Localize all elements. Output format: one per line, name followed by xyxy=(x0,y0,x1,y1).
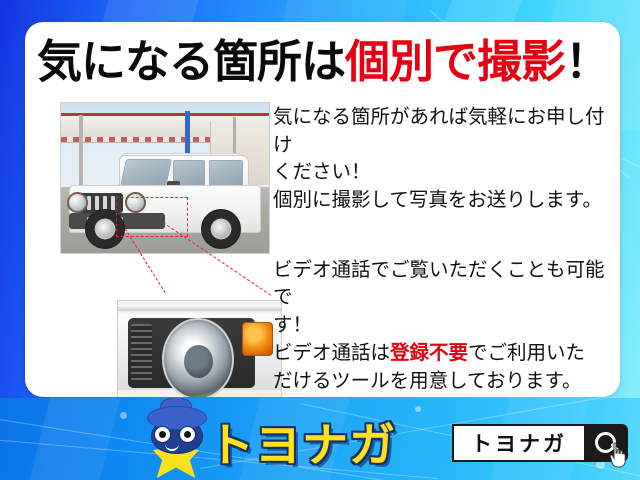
banner-image: 気になる箇所は個別で撮影！ xyxy=(0,0,640,480)
mascot-eye xyxy=(154,426,171,443)
content-card: 気になる箇所は個別で撮影！ xyxy=(25,22,620,397)
paragraph-1-line-2: ください！ xyxy=(273,161,371,183)
vehicle-photo-scene xyxy=(61,103,269,253)
headlight-lens xyxy=(162,318,234,397)
headlight xyxy=(67,192,88,213)
page-title: 気になる箇所は個別で撮影！ xyxy=(37,30,612,92)
paragraph-2-highlight: 登録不要 xyxy=(390,342,468,364)
search-button[interactable] xyxy=(584,424,628,462)
headline-part-2: ！ xyxy=(565,39,609,84)
turn-signal-lamp xyxy=(242,322,273,356)
headline-part-1: 気になる箇所は xyxy=(37,39,345,84)
description-column: 気になる箇所があれば気軽にお申し付け ください！ 個別に撮影して写真をお送りしま… xyxy=(273,104,611,395)
headlight-scene xyxy=(118,301,281,397)
brand-footer-bar: トヨナガ トヨナガ xyxy=(0,398,640,480)
wheel xyxy=(201,209,241,249)
paragraph-2-line-1: ビデオ通話でご覧いただくことも可能で xyxy=(273,259,605,309)
footer-dot xyxy=(120,412,127,419)
paragraph-2: ビデオ通話でご覧いただくことも可能で す！ ビデオ通話は登録不要でご利用いた だ… xyxy=(273,257,611,395)
vehicle-photo xyxy=(60,102,270,254)
brand-logo-text: トヨナガ xyxy=(208,422,396,468)
mascot-hat-brim xyxy=(147,406,207,430)
search-input[interactable]: トヨナガ xyxy=(452,424,584,462)
paragraph-2-line-4: だけるツールを用意しております。 xyxy=(273,370,582,392)
grille-vent xyxy=(131,324,152,381)
mascot-eye xyxy=(179,426,196,443)
photo-column xyxy=(35,102,267,390)
paragraph-2-line-3-post: でご利用いた xyxy=(468,342,585,364)
headline-part-highlight: 個別で撮影 xyxy=(345,39,565,84)
side-window xyxy=(209,160,243,186)
paragraph-2-line-2: す！ xyxy=(273,314,312,336)
headlight-detail-photo xyxy=(117,300,282,397)
projector-core xyxy=(184,345,213,378)
footer-facet xyxy=(25,398,125,480)
windshield xyxy=(120,159,172,187)
paragraph-1-line-3: 個別に撮影して写真をお送りします。 xyxy=(273,189,602,211)
paragraph-1-line-1: 気になる箇所があれば気軽にお申し付け xyxy=(273,106,605,156)
paragraph-1: 気になる箇所があれば気軽にお申し付け ください！ 個別に撮影して写真をお送りしま… xyxy=(273,104,611,215)
search-widget[interactable]: トヨナガ xyxy=(452,424,628,462)
paragraph-2-line-3-pre: ビデオ通話は xyxy=(273,342,390,364)
toyonaga-mascot-icon xyxy=(145,404,207,478)
hand-cursor-icon xyxy=(608,442,628,468)
footer-dot xyxy=(415,406,421,412)
chrome-trim xyxy=(118,305,281,310)
